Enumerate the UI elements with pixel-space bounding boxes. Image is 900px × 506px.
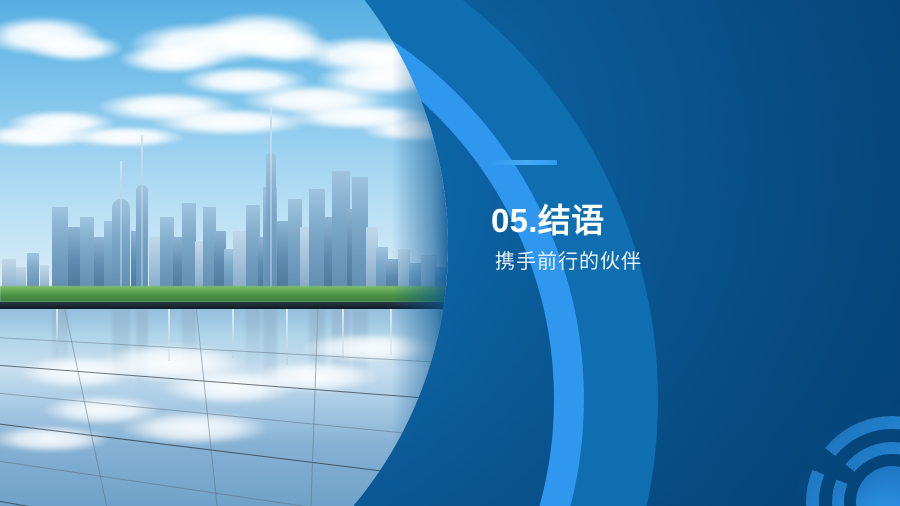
accent-bar xyxy=(491,160,557,165)
page-subtitle: 携手前行的伙伴 xyxy=(495,249,851,275)
slide-text-block: 05.结语 携手前行的伙伴 xyxy=(491,160,851,275)
building xyxy=(68,227,80,293)
cloud-icon xyxy=(66,126,186,148)
page-title: 05.结语 xyxy=(491,203,851,239)
antenna-icon xyxy=(120,161,122,293)
city-skyline-image xyxy=(0,0,448,506)
building xyxy=(80,217,94,293)
building xyxy=(309,189,325,293)
building xyxy=(182,203,196,293)
building xyxy=(160,217,174,293)
antenna-icon xyxy=(270,107,272,293)
presentation-slide: 05.结语 携手前行的伙伴 xyxy=(0,0,900,506)
antenna-icon xyxy=(141,135,143,293)
corner-ring-decoration xyxy=(806,416,900,506)
cloud-icon xyxy=(28,34,124,62)
water-gloss xyxy=(0,309,448,506)
building xyxy=(52,207,68,293)
photo-edge-fade xyxy=(392,0,448,506)
treeline xyxy=(0,286,448,302)
city-skyline-photo xyxy=(0,0,448,506)
building xyxy=(233,231,247,293)
water-reflection-area xyxy=(0,309,448,506)
